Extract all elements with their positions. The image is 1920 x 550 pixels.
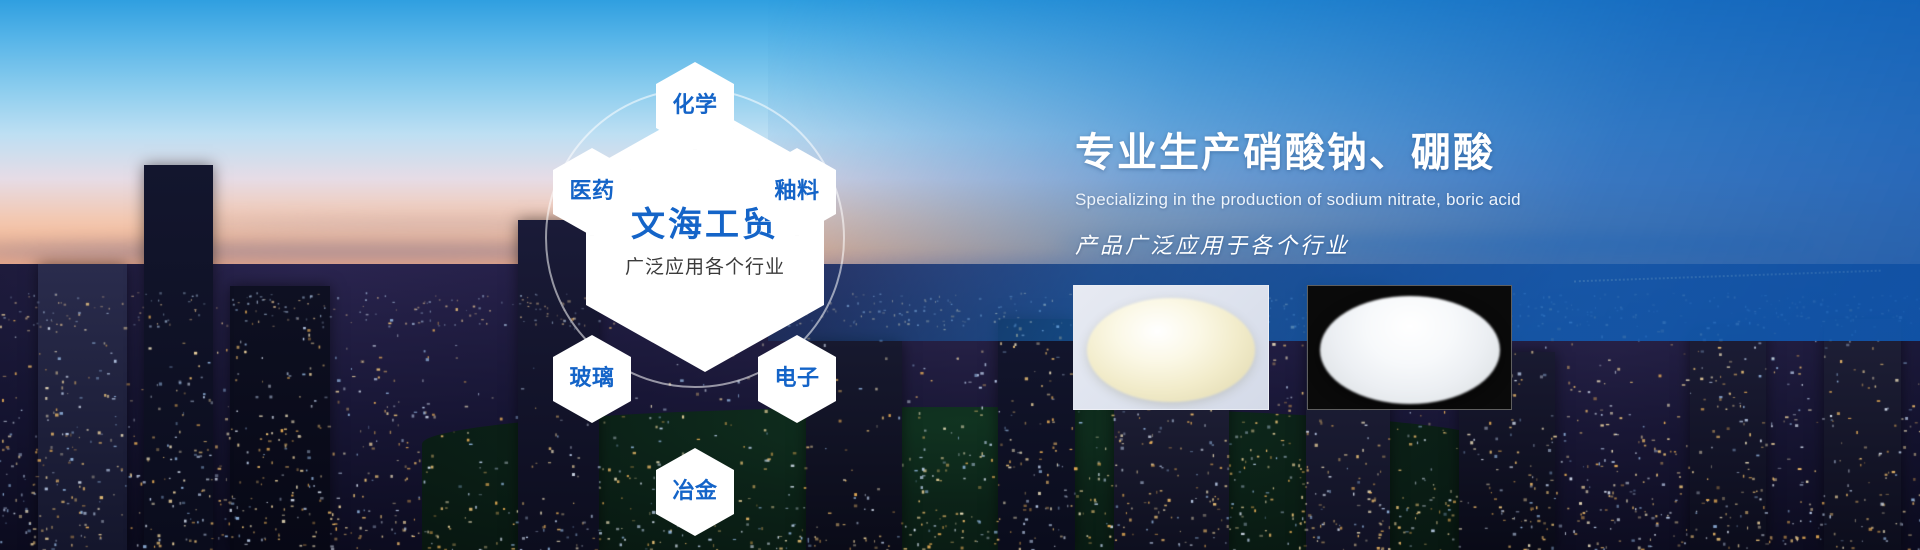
industry-hex-cluster: 文海工贸 广泛应用各个行业 化学 釉料 电子 冶金 玻璃 医药 [525, 28, 885, 528]
hex-node-metallurgy[interactable]: 冶金 [656, 448, 734, 536]
headline-text: 专业生产硝酸钠、硼酸 [1075, 120, 1875, 178]
product-photo-sodium-nitrate[interactable] [1073, 285, 1269, 410]
headline-tagline: 产品广泛应用于各个行业 [1075, 228, 1875, 260]
headline-subtext-english: Specializing in the production of sodium… [1075, 190, 1875, 210]
promo-banner: 文海工贸 广泛应用各个行业 化学 釉料 电子 冶金 玻璃 医药 专业生产硝酸钠、… [0, 0, 1920, 550]
product-photo-row [1073, 285, 1512, 410]
powder-heap [1087, 298, 1255, 402]
hex-node-label: 电子 [774, 368, 819, 390]
hex-node-label: 冶金 [672, 481, 717, 503]
building [1824, 319, 1901, 550]
background-scene [0, 0, 1920, 550]
building [230, 286, 330, 550]
hex-node-label: 医药 [569, 181, 614, 203]
hex-node-label: 化学 [672, 95, 717, 117]
headline-block: 专业生产硝酸钠、硼酸 Specializing in the productio… [1075, 120, 1875, 260]
powder-heap [1320, 296, 1500, 404]
building [38, 264, 126, 550]
company-name: 文海工贸 [631, 197, 779, 246]
hex-node-label: 釉料 [774, 181, 819, 203]
hex-node-label: 玻璃 [569, 368, 614, 390]
skyscraper [144, 165, 213, 550]
building [998, 319, 1075, 550]
product-photo-boric-acid[interactable] [1307, 285, 1512, 410]
building [1690, 330, 1767, 550]
company-tagline: 广泛应用各个行业 [625, 252, 785, 279]
